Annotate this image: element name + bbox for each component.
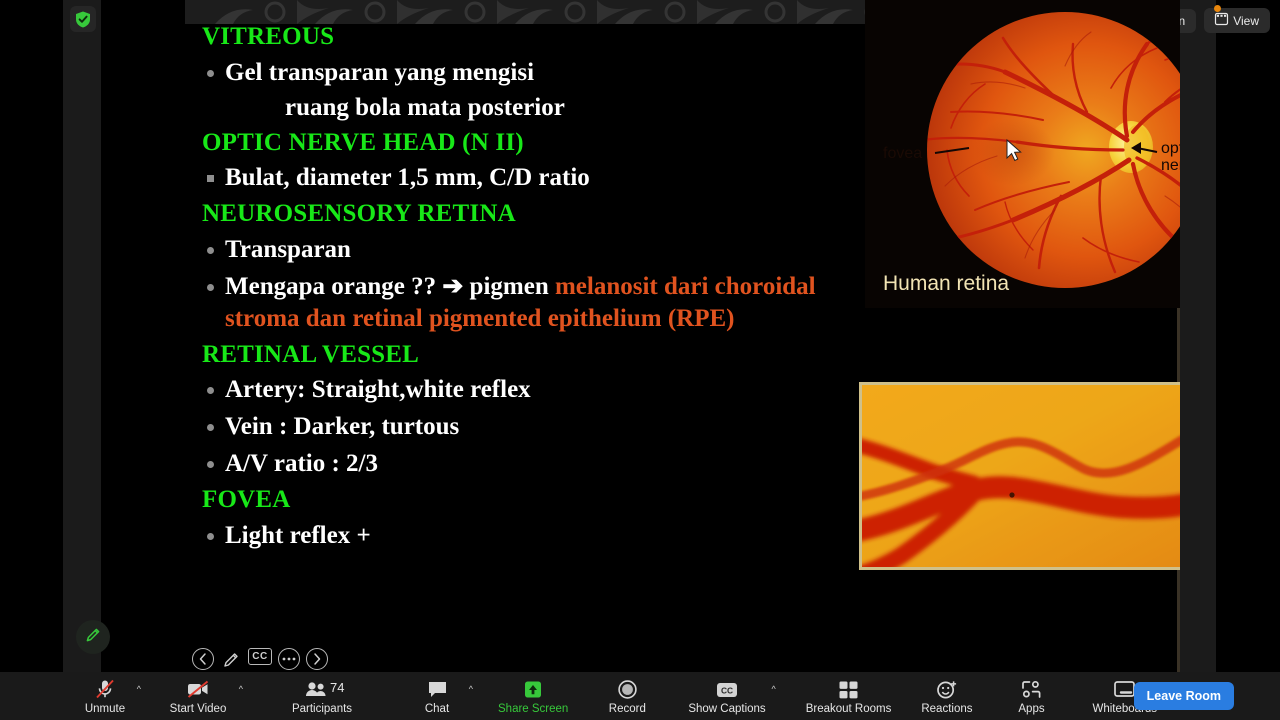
bullet-dot-icon <box>195 374 225 394</box>
pencil-icon <box>85 626 102 648</box>
bullet-dot-icon <box>195 271 225 291</box>
apps-icon <box>1021 678 1042 700</box>
slide-text-column: VITREOUS Gel transparan yang mengisi rua… <box>195 22 855 557</box>
record-label: Record <box>609 703 646 715</box>
encryption-status[interactable] <box>70 6 96 32</box>
participants-count: 74 <box>330 680 344 695</box>
leave-room-label: Leave Room <box>1147 689 1221 703</box>
svg-text:fovea: fovea <box>883 145 922 162</box>
smiley-plus-icon <box>936 678 958 700</box>
show-captions-button[interactable]: CC Show Captions ^ <box>680 672 773 720</box>
right-chrome-band <box>1180 0 1216 672</box>
toolbar-left-group: Unmute ^ Start Video ^ <box>74 672 1165 720</box>
chevron-up-icon[interactable]: ^ <box>239 684 243 694</box>
cc-icon: CC <box>252 651 267 662</box>
svg-text:Human retina: Human retina <box>883 272 1009 295</box>
participants-button[interactable]: Participants 74 <box>282 672 362 720</box>
bullet-dot-icon <box>195 411 225 431</box>
video-off-icon <box>186 678 210 700</box>
list-item: Gel transparan yang mengisi <box>195 57 855 89</box>
chevron-up-icon[interactable]: ^ <box>137 684 141 694</box>
cc-icon: CC <box>715 678 739 700</box>
slide-heading-vitreous: VITREOUS <box>202 22 855 52</box>
reactions-label: Reactions <box>921 703 972 715</box>
vitreous-continuation: ruang bola mata posterior <box>285 92 855 124</box>
grid-squares-icon <box>838 678 859 700</box>
left-chrome-band <box>63 0 101 672</box>
captions-button[interactable]: CC <box>248 648 272 665</box>
start-video-label: Start Video <box>170 703 227 715</box>
chat-button[interactable]: Chat ^ <box>406 672 468 720</box>
show-captions-label: Show Captions <box>688 703 765 715</box>
bullet-square-icon <box>195 162 225 182</box>
svg-text:CC: CC <box>721 685 733 695</box>
list-item: A/V ratio : 2/3 <box>195 448 855 480</box>
apps-label: Apps <box>1018 703 1044 715</box>
view-button[interactable]: View <box>1204 8 1270 33</box>
list-item: Bulat, diameter 1,5 mm, C/D ratio <box>195 162 855 194</box>
breakout-rooms-button[interactable]: Breakout Rooms <box>798 672 900 720</box>
mic-muted-icon <box>94 678 116 700</box>
bullet-dot-icon <box>195 57 225 77</box>
list-item: Artery: Straight,white reflex <box>195 374 855 406</box>
reactions-button[interactable]: Reactions <box>913 672 980 720</box>
slide-heading-neurosensory-retina: NEUROSENSORY RETINA <box>202 199 855 229</box>
next-slide-button[interactable] <box>306 648 328 670</box>
record-button[interactable]: Record <box>596 672 658 720</box>
layout-grid-icon <box>1215 13 1228 28</box>
previous-slide-button[interactable] <box>192 648 214 670</box>
participants-label: Participants <box>292 703 352 715</box>
annotate-pencil-button[interactable] <box>220 648 242 670</box>
whiteboard-icon <box>1113 678 1136 700</box>
chevron-up-icon[interactable]: ^ <box>469 684 473 694</box>
bullet-dot-icon <box>195 234 225 254</box>
breakout-rooms-label: Breakout Rooms <box>806 703 892 715</box>
start-video-button[interactable]: Start Video ^ <box>158 672 238 720</box>
record-circle-icon <box>617 678 638 700</box>
zoom-meeting-window: Sign in View <box>0 0 1280 720</box>
bullet-dot-icon <box>195 520 225 540</box>
slide-heading-retinal-vessel: RETINAL VESSEL <box>202 340 855 370</box>
apps-button[interactable]: Apps <box>1000 672 1062 720</box>
annotation-toolbar: CC <box>192 648 328 670</box>
chat-bubble-icon <box>427 678 448 700</box>
chat-label: Chat <box>425 703 449 715</box>
list-item: Transparan <box>195 234 855 266</box>
zoom-bottom-toolbar: Unmute ^ Start Video ^ <box>0 672 1280 720</box>
share-up-arrow-icon <box>522 678 544 700</box>
retinal-vessel-closeup-image <box>859 382 1180 570</box>
list-item: Vein : Darker, turtous <box>195 411 855 443</box>
svg-text:optic: optic <box>1161 140 1180 157</box>
annotate-fab-button[interactable] <box>76 620 110 654</box>
leave-room-button[interactable]: Leave Room <box>1134 682 1234 710</box>
slide-heading-optic-nerve-head: OPTIC NERVE HEAD (N II) <box>202 128 855 158</box>
chevron-up-icon[interactable]: ^ <box>771 684 775 694</box>
svg-text:nerve: nerve <box>1161 157 1180 174</box>
unmute-button[interactable]: Unmute ^ <box>74 672 136 720</box>
list-item: Light reflex + <box>195 520 855 552</box>
bullet-dot-icon <box>195 448 225 468</box>
more-options-button[interactable] <box>278 648 300 670</box>
shared-screen-slide: VITREOUS Gel transparan yang mengisi rua… <box>185 0 1180 672</box>
shield-check-icon <box>75 11 91 28</box>
share-screen-label: Share Screen <box>498 703 568 715</box>
unmute-label: Unmute <box>85 703 125 715</box>
human-retina-fundus-image: fovea optic nerve Human retina <box>865 0 1180 308</box>
view-label: View <box>1233 14 1259 28</box>
slide-heading-fovea: FOVEA <box>202 485 855 515</box>
mengapa-orange-white-part: Mengapa orange ?? ➔ pigmen <box>225 273 555 300</box>
list-item: Mengapa orange ?? ➔ pigmen melanosit dar… <box>195 271 855 335</box>
share-screen-button[interactable]: Share Screen <box>490 672 576 720</box>
mengapa-orange-text: Mengapa orange ?? ➔ pigmen melanosit dar… <box>225 271 855 335</box>
